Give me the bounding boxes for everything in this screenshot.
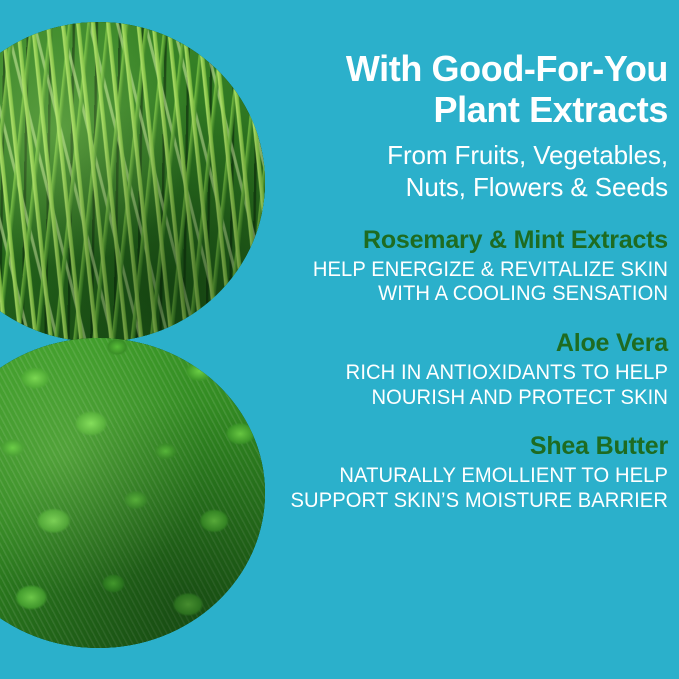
ingredient-name: Rosemary & Mint Extracts (248, 226, 668, 256)
rosemary-shading (0, 22, 265, 342)
ingredient-block-aloe-vera: Aloe Vera RICH IN ANTIOXIDANTS TO HELP N… (248, 329, 668, 410)
rosemary-photo (0, 22, 265, 342)
copy-column: With Good-For-You Plant Extracts From Fr… (248, 0, 668, 513)
ingredient-description: RICH IN ANTIOXIDANTS TO HELP NOURISH AND… (265, 361, 668, 410)
subheadline: From Fruits, Vegetables, Nuts, Flowers &… (248, 140, 668, 203)
ingredient-block-rosemary-mint: Rosemary & Mint Extracts HELP ENERGIZE &… (248, 226, 668, 307)
product-benefits-poster: With Good-For-You Plant Extracts From Fr… (0, 0, 679, 679)
headline: With Good-For-You Plant Extracts (248, 48, 668, 130)
ingredient-name: Aloe Vera (248, 329, 668, 359)
ingredient-name: Shea Butter (248, 432, 668, 462)
ingredient-block-shea-butter: Shea Butter NATURALLY EMOLLIENT TO HELP … (248, 432, 668, 513)
ingredient-description: HELP ENERGIZE & REVITALIZE SKIN WITH A C… (265, 258, 668, 307)
mint-photo (0, 338, 265, 648)
ingredient-description: NATURALLY EMOLLIENT TO HELP SUPPORT SKIN… (265, 464, 668, 513)
mint-shading (0, 338, 265, 648)
